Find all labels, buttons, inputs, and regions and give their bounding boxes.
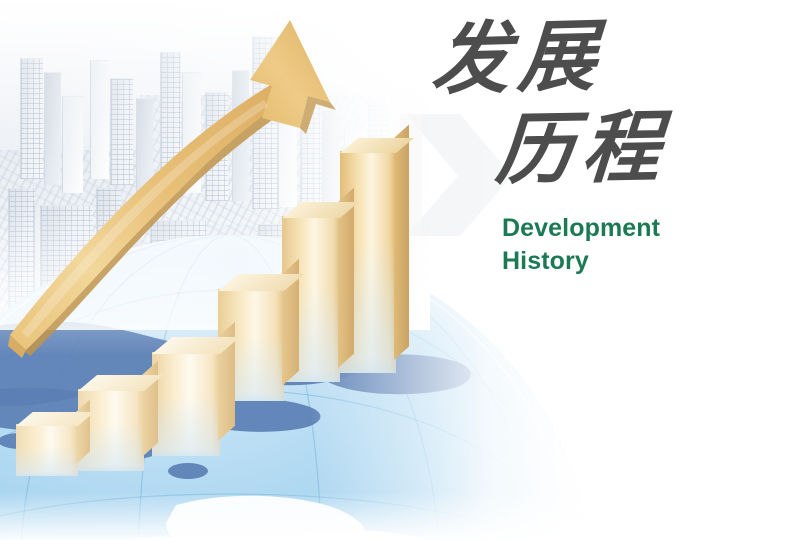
- title-chinese-line-2: 历程: [493, 107, 773, 190]
- title-block: 发展 历程 Development History: [430, 22, 770, 278]
- title-english: Development History: [502, 212, 770, 278]
- title-chinese-line-1: 发展: [430, 13, 773, 100]
- development-history-banner: 发展 历程 Development History: [0, 0, 800, 540]
- title-english-line-2: History: [502, 245, 770, 278]
- title-english-line-1: Development: [502, 212, 770, 245]
